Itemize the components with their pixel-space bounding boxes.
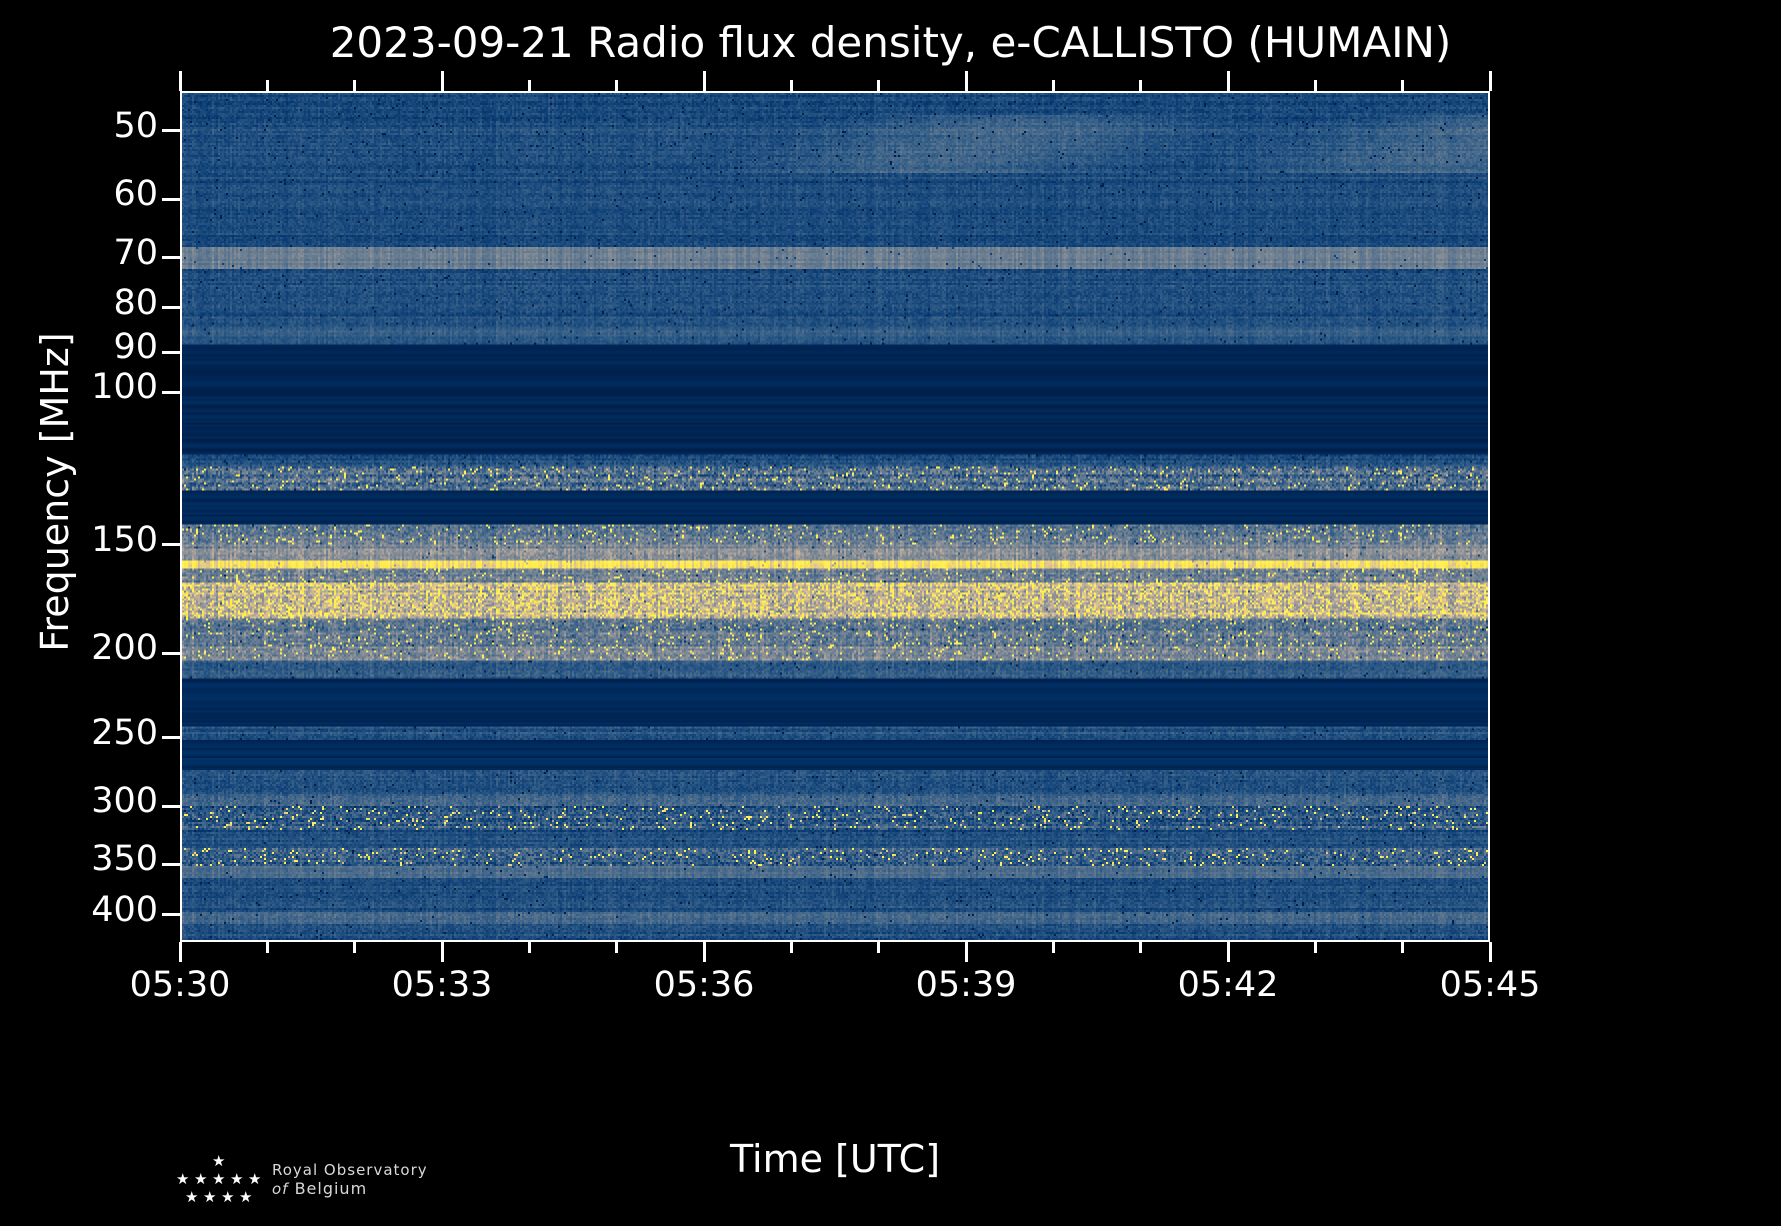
- y-tick-label: 350: [91, 842, 158, 877]
- y-tick-mark: [162, 198, 180, 201]
- star-icon: ★: [185, 1190, 198, 1205]
- y-tick-mark: [162, 652, 180, 655]
- spectrogram-plot-area[interactable]: [180, 91, 1490, 942]
- y-tick-label: 70: [113, 236, 158, 271]
- y-tick-label: 80: [113, 286, 158, 321]
- x-minor-tick-mark: [1401, 942, 1404, 953]
- y-tick-mark: [162, 863, 180, 866]
- x-minor-tick-mark: [1314, 942, 1317, 953]
- x-tick-label: 05:39: [916, 968, 1017, 1003]
- star-icon: ★: [239, 1190, 252, 1205]
- y-tick-mark: [162, 543, 180, 546]
- x-tick-mark: [179, 942, 182, 962]
- x-minor-tick-mark-top: [1401, 80, 1404, 91]
- x-tick-mark: [1227, 942, 1230, 962]
- x-tick-mark-top: [965, 71, 968, 91]
- logo-text: Royal Observatory of Belgium: [272, 1161, 428, 1200]
- star-icon: ★: [230, 1172, 243, 1187]
- x-tick-mark: [1489, 942, 1492, 962]
- y-tick-label: 50: [113, 109, 158, 144]
- y-tick-mark: [162, 736, 180, 739]
- x-tick-mark: [441, 942, 444, 962]
- x-minor-tick-mark: [1139, 942, 1142, 953]
- x-minor-tick-mark-top: [1139, 80, 1142, 91]
- y-tick-mark: [162, 129, 180, 132]
- y-tick-label: 90: [113, 330, 158, 365]
- star-icon: ★: [203, 1190, 216, 1205]
- y-tick-label: 400: [91, 893, 158, 928]
- x-tick-label: 05:30: [130, 968, 231, 1003]
- logo-line-2: of Belgium: [272, 1179, 428, 1199]
- y-tick-label: 100: [91, 370, 158, 405]
- x-tick-label: 05:36: [654, 968, 755, 1003]
- x-minor-tick-mark: [877, 942, 880, 953]
- x-minor-tick-mark-top: [1052, 80, 1055, 91]
- x-tick-label: 05:45: [1440, 968, 1541, 1003]
- y-tick-mark: [162, 913, 180, 916]
- star-icon: ★: [176, 1172, 189, 1187]
- x-tick-mark: [703, 942, 706, 962]
- x-tick-label: 05:33: [392, 968, 493, 1003]
- star-icon: ★: [194, 1172, 207, 1187]
- x-tick-mark: [965, 942, 968, 962]
- star-icon: ★: [221, 1190, 234, 1205]
- y-tick-mark: [162, 306, 180, 309]
- x-minor-tick-mark: [353, 942, 356, 953]
- y-tick-mark: [162, 351, 180, 354]
- star-icon: ★: [248, 1172, 261, 1187]
- y-tick-label: 250: [91, 716, 158, 751]
- x-minor-tick-mark-top: [266, 80, 269, 91]
- logo-of-word: of: [272, 1180, 288, 1198]
- y-axis-title: Frequency [MHz]: [33, 192, 77, 792]
- x-tick-mark-top: [441, 71, 444, 91]
- eu-stars-icon: ★★★★★★★★★★: [178, 1152, 260, 1208]
- x-tick-label: 05:42: [1178, 968, 1279, 1003]
- x-minor-tick-mark-top: [353, 80, 356, 91]
- logo-line-1: Royal Observatory: [272, 1161, 428, 1180]
- x-minor-tick-mark-top: [790, 80, 793, 91]
- x-minor-tick-mark: [790, 942, 793, 953]
- x-minor-tick-mark: [528, 942, 531, 953]
- x-minor-tick-mark: [266, 942, 269, 953]
- x-tick-mark-top: [179, 71, 182, 91]
- y-tick-label: 200: [91, 631, 158, 666]
- x-tick-mark-top: [703, 71, 706, 91]
- x-minor-tick-mark: [1052, 942, 1055, 953]
- x-minor-tick-mark-top: [877, 80, 880, 91]
- x-minor-tick-mark: [615, 942, 618, 953]
- y-tick-mark: [162, 391, 180, 394]
- spectrogram-image: [180, 91, 1490, 942]
- y-tick-label: 60: [113, 177, 158, 212]
- x-minor-tick-mark-top: [1314, 80, 1317, 91]
- x-minor-tick-mark-top: [528, 80, 531, 91]
- logo-country: Belgium: [295, 1179, 368, 1198]
- x-minor-tick-mark-top: [615, 80, 618, 91]
- page-title: 2023-09-21 Radio flux density, e-CALLIST…: [0, 18, 1781, 67]
- y-tick-label: 300: [91, 784, 158, 819]
- star-icon: ★: [212, 1172, 225, 1187]
- y-tick-label: 150: [91, 523, 158, 558]
- royal-observatory-of-belgium-logo: ★★★★★★★★★★ Royal Observatory of Belgium: [178, 1145, 438, 1215]
- x-tick-mark-top: [1227, 71, 1230, 91]
- x-tick-mark-top: [1489, 71, 1492, 91]
- star-icon: ★: [212, 1154, 225, 1169]
- y-tick-mark: [162, 805, 180, 808]
- spectrogram-figure: 2023-09-21 Radio flux density, e-CALLIST…: [0, 0, 1781, 1226]
- y-tick-mark: [162, 256, 180, 259]
